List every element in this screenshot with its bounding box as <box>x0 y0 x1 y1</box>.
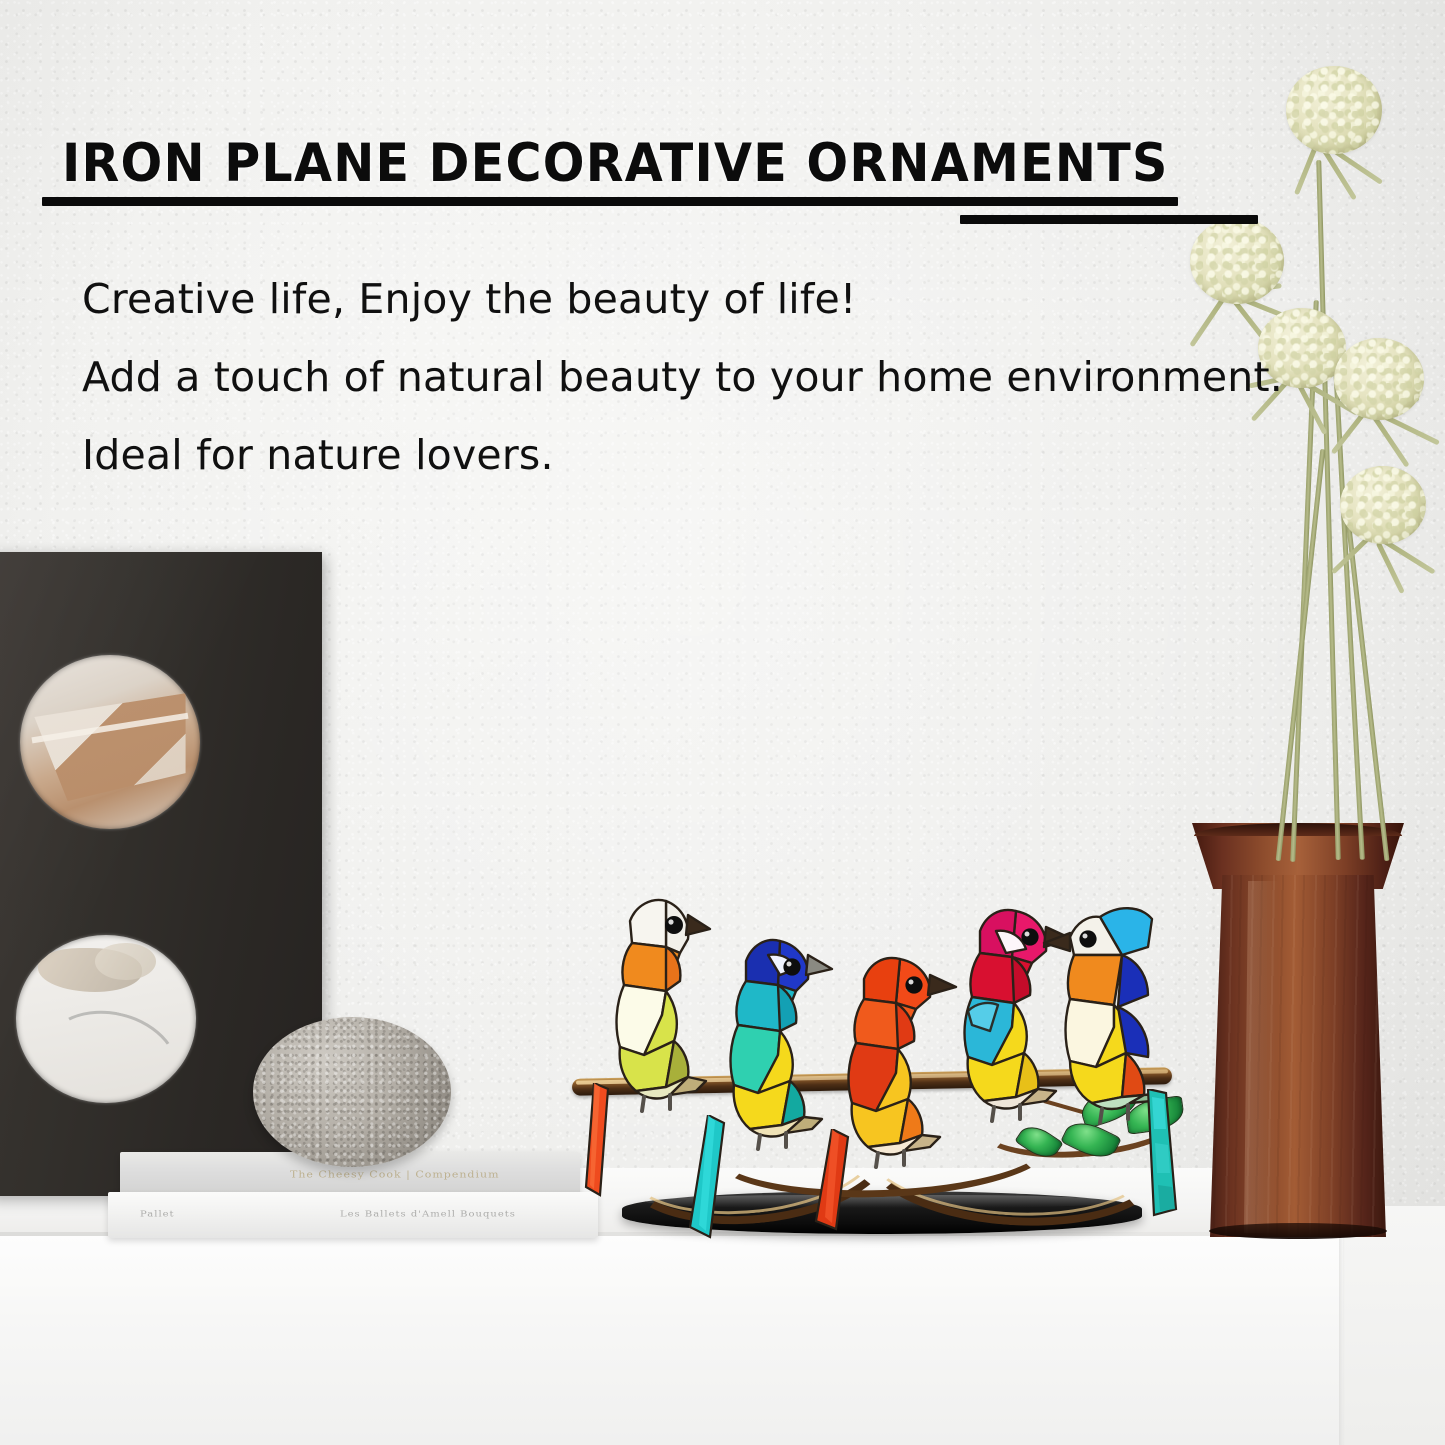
shelf-front-panel <box>0 1236 1343 1445</box>
mirror-reflection-blob-2 <box>95 943 156 980</box>
book-spine-text-lower-left: Pallet <box>140 1210 175 1219</box>
flower-head-4 <box>1328 338 1434 440</box>
mirror-reflection-arc <box>31 997 191 1103</box>
vase-base-shadow <box>1209 1223 1387 1239</box>
tagline-3: Ideal for nature lovers. <box>82 431 554 479</box>
bird-3-tail <box>812 1129 852 1239</box>
wooden-vase <box>1192 823 1404 1237</box>
flower-bloom <box>1340 466 1426 544</box>
bloom-texture <box>1286 66 1382 154</box>
book-spine-text-lower-right: Les Ballets d'Amell Bouquets <box>340 1210 516 1219</box>
tagline-2: Add a touch of natural beauty to your ho… <box>82 353 1283 401</box>
flower-bloom <box>1334 338 1424 420</box>
bird-1-tail <box>578 1083 612 1203</box>
title-underline-primary <box>42 197 1178 206</box>
tagline-1: Creative life, Enjoy the beauty of life! <box>82 275 857 323</box>
bird-5-tail <box>1136 1089 1184 1221</box>
book-spine-text-upper: The Cheesy Cook | Compendium <box>290 1169 500 1179</box>
stone-texture <box>253 1017 451 1167</box>
shelf-side-panel <box>1343 1206 1445 1445</box>
bloom-texture <box>1334 338 1424 420</box>
round-mirror-top <box>20 655 200 829</box>
flower-head-5 <box>1336 466 1438 564</box>
mirror-reflection-shape <box>34 693 185 801</box>
flower-bloom <box>1190 218 1284 304</box>
bird-2-tail <box>684 1115 728 1245</box>
flower-arrangement <box>1150 48 1445 848</box>
flower-head-1 <box>1278 66 1386 168</box>
round-mirror-bottom <box>16 935 196 1103</box>
bloom-texture <box>1190 218 1284 304</box>
bloom-texture <box>1340 466 1426 544</box>
pebble-stone <box>253 1017 451 1167</box>
flower-stem-4 <box>1276 449 1326 861</box>
flower-bloom <box>1286 66 1382 154</box>
product-marketing-image: The Cheesy Cook | Compendium Pallet Les … <box>0 0 1445 1445</box>
page-title: IRON PLANE DECORATIVE ORNAMENTS <box>62 133 1169 194</box>
bird-sculpture <box>560 893 1185 1243</box>
vase-highlight <box>1244 881 1278 1233</box>
vase-wood-grain <box>1210 875 1386 1237</box>
title-underline-secondary <box>960 215 1258 224</box>
